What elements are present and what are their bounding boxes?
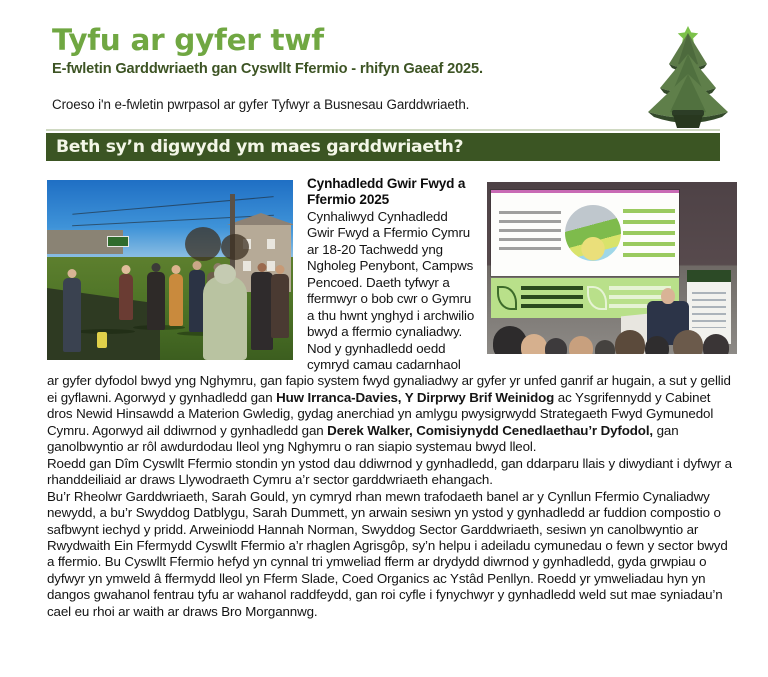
person — [251, 272, 273, 350]
person-head — [214, 264, 236, 284]
emphasised-name: Huw Irranca-Davies, Y Dirprwy Brif Weini… — [276, 390, 554, 405]
person-head — [122, 265, 131, 274]
audience-head — [569, 336, 593, 354]
section-banner: Beth sy’n digwydd ym maes garddwriaeth? — [46, 133, 720, 161]
conference-stage-photo — [487, 182, 737, 354]
audience-head — [521, 334, 547, 354]
audience-head — [545, 338, 567, 354]
person — [203, 276, 247, 360]
house-window — [267, 261, 275, 271]
bare-tree — [185, 227, 221, 261]
welcome-text: Croeso i'n e-fwletin pwrpasol ar gyfer T… — [52, 97, 469, 112]
para-2: Roedd gan Dîm Cyswllt Ffermio stondin yn… — [47, 456, 737, 489]
person — [169, 274, 183, 326]
slide-text-left — [499, 211, 561, 255]
conference-logo-mark — [565, 205, 621, 261]
conference-audience — [487, 312, 737, 354]
slide-text-right — [623, 209, 675, 259]
person — [119, 274, 133, 320]
audience-head — [673, 330, 703, 354]
band-text-left — [521, 286, 583, 310]
person-head — [193, 261, 202, 270]
audience-head — [645, 336, 669, 354]
para-3: Bu’r Rheolwr Garddwriaeth, Sarah Gould, … — [47, 489, 737, 621]
bare-tree — [221, 234, 249, 260]
person-head — [152, 263, 161, 272]
audience-head — [615, 330, 645, 354]
article-body: Cynhadledd Gwir Fwyd a Ffermio 2025 Cynh… — [47, 176, 737, 620]
audience-head — [595, 340, 615, 354]
conference-speaker-head — [661, 288, 675, 304]
masthead: Tyfu ar gyfer twf E-fwletin Garddwriaeth… — [52, 24, 612, 77]
section-banner-title: Beth sy’n digwydd ym maes garddwriaeth? — [56, 137, 463, 157]
leaf-icon — [587, 286, 607, 310]
body-text: Roedd gan Dîm Cyswllt Ffermio stondin yn… — [47, 456, 732, 487]
person-head — [68, 269, 77, 278]
farm-visit-photo — [47, 180, 293, 360]
page-subtitle: E-fwletin Garddwriaeth gan Cyswllt Fferm… — [52, 61, 612, 77]
house-window — [243, 261, 251, 271]
audience-head — [703, 334, 729, 354]
leaf-icon — [497, 286, 517, 310]
person — [147, 272, 165, 330]
newsletter-header: Tyfu ar gyfer twf E-fwletin Garddwriaeth… — [0, 0, 768, 125]
person — [63, 278, 81, 352]
person-head — [258, 263, 267, 272]
house-window — [267, 239, 275, 249]
person — [271, 274, 289, 338]
person-head — [172, 265, 181, 274]
page-title: Tyfu ar gyfer twf — [52, 24, 612, 57]
farm-sign — [107, 236, 129, 247]
body-text: Bu’r Rheolwr Garddwriaeth, Sarah Gould, … — [47, 489, 728, 619]
yellow-boots — [97, 332, 107, 348]
banner-divider — [46, 129, 720, 131]
emphasised-name: Derek Walker, Comisiynydd Cenedlaethau’r… — [327, 423, 653, 438]
christmas-tree-icon — [632, 16, 744, 128]
conference-projection-screen — [491, 190, 679, 276]
newsletter-page: Tyfu ar gyfer twf E-fwletin Garddwriaeth… — [0, 0, 768, 677]
person-head — [276, 265, 285, 274]
